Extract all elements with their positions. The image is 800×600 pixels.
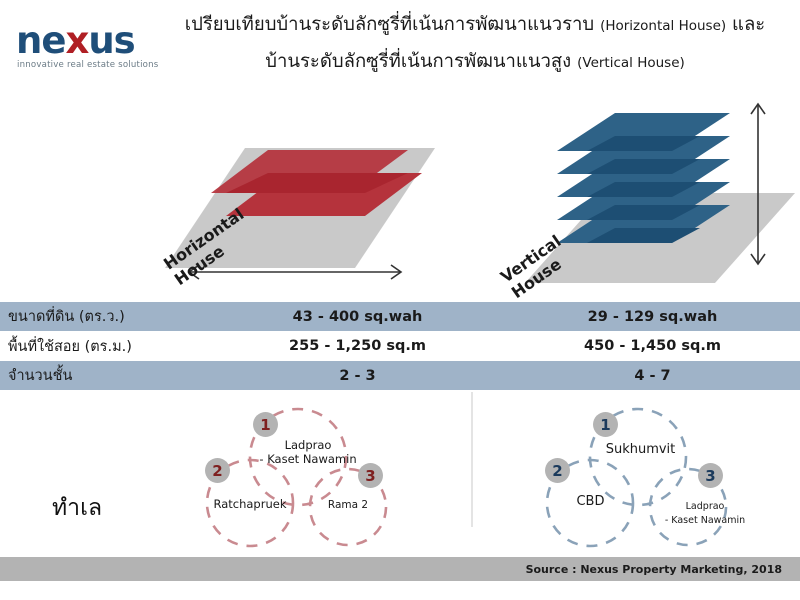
title-line-2-thai: บ้านระดับลักซูรี่ที่เน้นการพัฒนาแนวสูง [265, 51, 571, 72]
source-note: Source : Nexus Property Marketing, 2018 [526, 563, 800, 576]
comparison-table: ขนาดที่ดิน (ตร.ว.) 43 - 400 sq.wah 29 - … [0, 302, 800, 390]
row-label-usable-area: พื้นที่ใช้สอย (ตร.ม.) [0, 335, 210, 358]
location-section-label: ทำเล [52, 490, 102, 526]
bubble-label-3-horizontal: Rama 2 [313, 498, 383, 512]
bubble-badge-2-horizontal: 2 [205, 458, 230, 483]
bubble-badge-2-vertical: 2 [545, 458, 570, 483]
diagram-svg [0, 88, 800, 293]
table-row: พื้นที่ใช้สอย (ตร.ม.) 255 - 1,250 sq.m 4… [0, 331, 800, 361]
row-value-vertical-usable-area: 450 - 1,450 sq.m [505, 338, 800, 354]
table-row: ขนาดที่ดิน (ตร.ว.) 43 - 400 sq.wah 29 - … [0, 302, 800, 331]
bubble-badge-1-vertical: 1 [593, 412, 618, 437]
bubble-label-3-vertical: Ladprao - Kaset Nawamin [650, 500, 760, 528]
table-row: จำนวนชั้น 2 - 3 4 - 7 [0, 361, 800, 390]
page-title: เปรียบเทียบบ้านระดับลักซูรี่ที่เน้นการพั… [150, 8, 800, 80]
infographic-page: nexus innovative real estate solutions เ… [0, 0, 800, 600]
logo-text-pre: ne [16, 19, 65, 62]
title-line-2-english: (Vertical House) [577, 55, 685, 71]
title-line-1: เปรียบเทียบบ้านระดับลักซูรี่ที่เน้นการพั… [150, 8, 800, 43]
bubble-badge-3-horizontal: 3 [358, 463, 383, 488]
row-value-horizontal-floor-count: 2 - 3 [210, 368, 505, 384]
bubble-label-1-vertical: Sukhumvit [588, 443, 693, 457]
row-label-floor-count: จำนวนชั้น [0, 364, 210, 387]
footer-bar: Source : Nexus Property Marketing, 2018 [0, 557, 800, 581]
diagram-illustrations: Horizontal House Vertical House [0, 88, 800, 293]
title-line-1-conjunction: และ [732, 14, 765, 35]
bubble-label-2-horizontal: Ratchapruek [195, 497, 305, 511]
row-value-vertical-land-size: 29 - 129 sq.wah [505, 309, 800, 325]
bubble-badge-1-horizontal-real: 1 [253, 412, 278, 437]
row-value-horizontal-land-size: 43 - 400 sq.wah [210, 309, 505, 325]
location-section: ทำเล 1 2 3 Ladprao - Kaset Nawamin Ratch… [0, 390, 800, 557]
title-line-2: บ้านระดับลักซูรี่ที่เน้นการพัฒนาแนวสูง (… [150, 45, 800, 80]
row-value-vertical-floor-count: 4 - 7 [505, 368, 800, 384]
bubble-label-1-horizontal: Ladprao - Kaset Nawamin [243, 438, 373, 466]
title-line-1-english: (Horizontal House) [600, 18, 726, 34]
row-label-land-size: ขนาดที่ดิน (ตร.ว.) [0, 305, 210, 328]
logo-x-letter: x [65, 19, 88, 62]
bubble-badge-3-vertical: 3 [698, 463, 723, 488]
logo-text-post: us [88, 19, 134, 62]
row-value-horizontal-usable-area: 255 - 1,250 sq.m [210, 338, 505, 354]
title-line-1-thai: เปรียบเทียบบ้านระดับลักซูรี่ที่เน้นการพั… [185, 14, 594, 35]
bubble-label-2-vertical: CBD [548, 495, 633, 509]
